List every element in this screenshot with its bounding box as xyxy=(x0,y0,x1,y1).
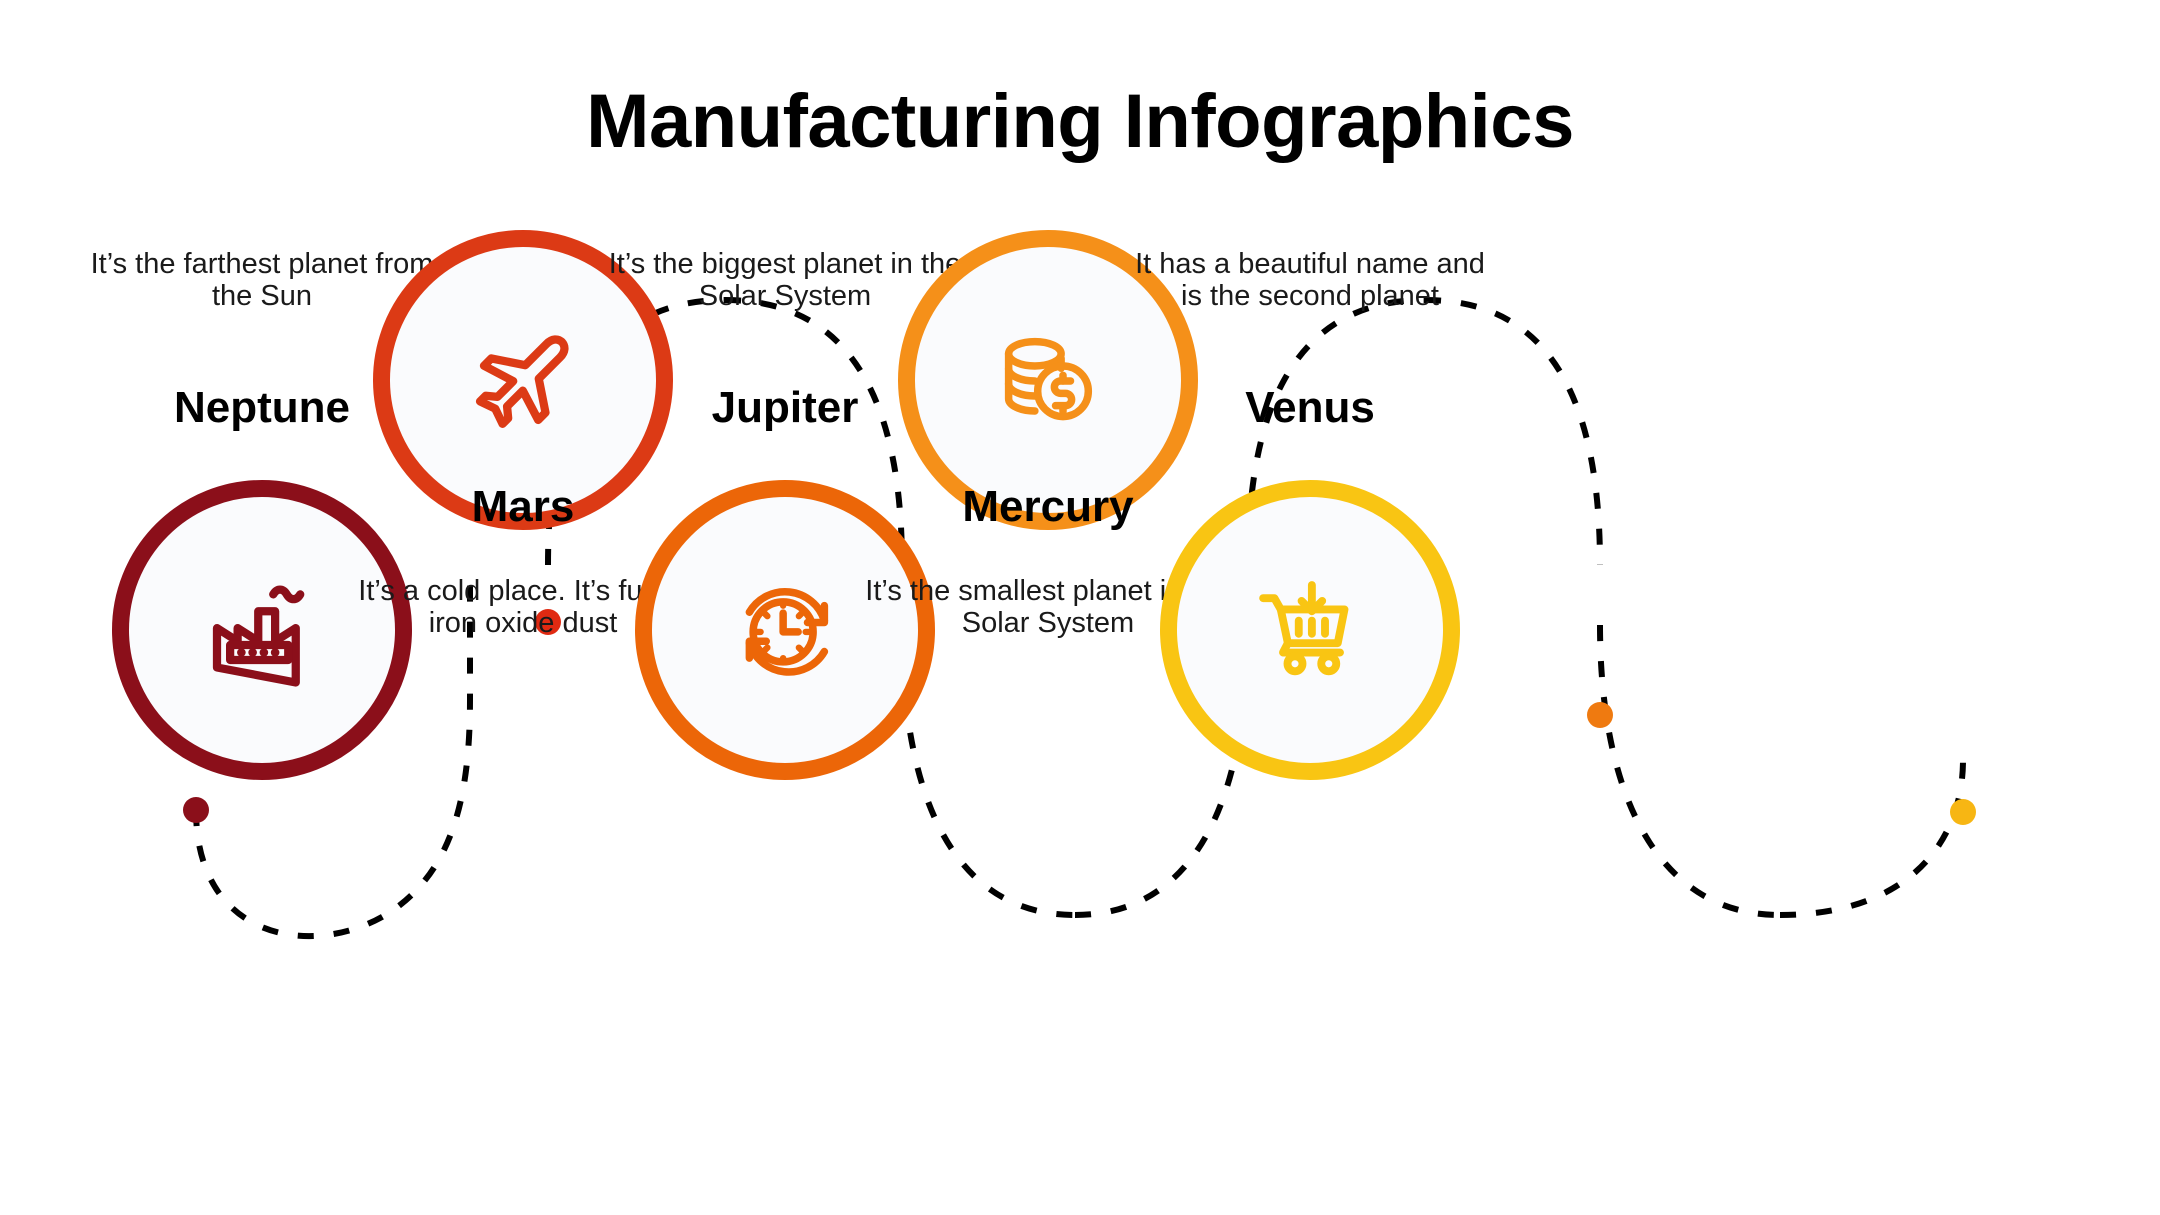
clock-refresh-icon xyxy=(725,570,845,690)
shopping-cart-download-icon xyxy=(1250,570,1370,690)
step-label: Venus xyxy=(1100,383,1520,433)
connector-dot-5 xyxy=(1950,799,1976,825)
connector-dot-0 xyxy=(183,797,209,823)
coins-dollar-icon xyxy=(988,320,1108,440)
airplane-icon xyxy=(463,320,583,440)
page-title: Manufacturing Infographics xyxy=(0,78,2160,165)
step-description: It has a beautiful name and is the secon… xyxy=(1125,248,1495,313)
factory-icon xyxy=(202,570,322,690)
connector-dot-4 xyxy=(1587,702,1613,728)
step-circle-venus[interactable] xyxy=(1160,480,1460,780)
